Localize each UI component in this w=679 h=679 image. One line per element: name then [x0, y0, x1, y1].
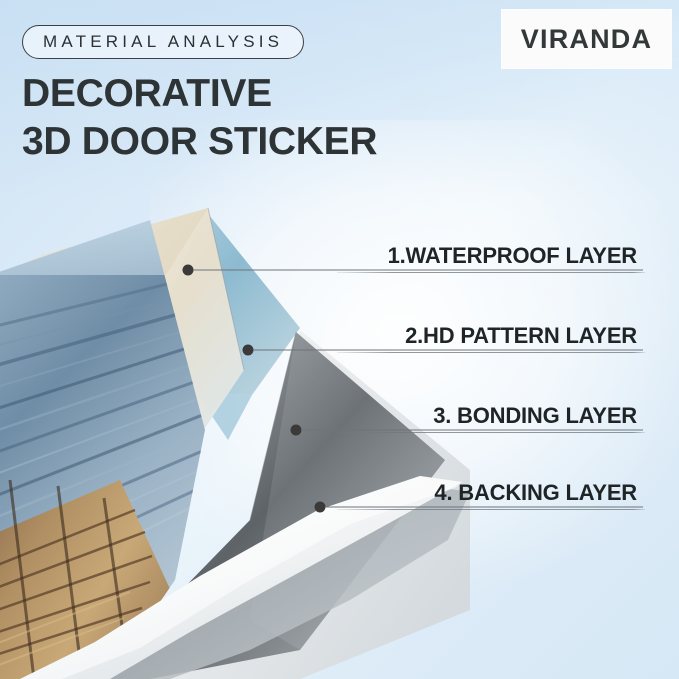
leader-line-4 — [325, 507, 643, 508]
callout-dot-3 — [291, 425, 302, 436]
brand-logo: VIRANDA — [502, 10, 671, 68]
layer-label-1: 1.WATERPROOF LAYER — [337, 243, 637, 269]
layer-rule-1 — [337, 272, 645, 273]
eyebrow-label: MATERIAL ANALYSIS — [43, 32, 283, 52]
eyebrow-badge: MATERIAL ANALYSIS — [22, 25, 304, 59]
callout-dot-2 — [243, 345, 254, 356]
leader-line-3 — [301, 430, 643, 431]
leader-line-1 — [193, 270, 643, 271]
brand-name: VIRANDA — [521, 24, 652, 55]
layer-label-3: 3. BONDING LAYER — [337, 403, 637, 429]
leader-line-2 — [253, 350, 643, 351]
title-line-1: DECORATIVE — [22, 72, 272, 115]
page-title: DECORATIVE 3D DOOR STICKER — [22, 70, 482, 166]
layer-rule-3 — [337, 432, 645, 433]
callout-dot-4 — [315, 502, 326, 513]
title-line-2: 3D DOOR STICKER — [22, 118, 482, 166]
layer-label-2: 2.HD PATTERN LAYER — [337, 323, 637, 349]
layer-label-4: 4. BACKING LAYER — [337, 480, 637, 506]
callout-dot-1 — [183, 265, 194, 276]
layer-rule-2 — [337, 352, 645, 353]
product-infographic: MATERIAL ANALYSIS DECORATIVE 3D DOOR STI… — [0, 0, 679, 679]
layer-rule-4 — [337, 509, 645, 510]
